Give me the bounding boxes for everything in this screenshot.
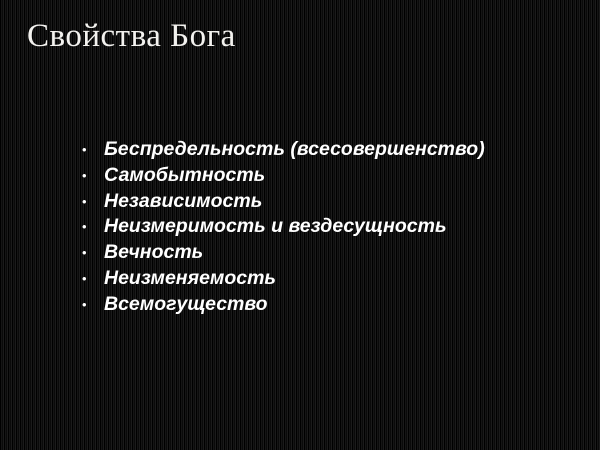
- bullet-icon: •: [78, 292, 104, 318]
- list-item-label: Неизмеримость и вездесущность: [104, 214, 447, 240]
- bullet-icon: •: [78, 266, 104, 292]
- bullet-icon: •: [78, 214, 104, 240]
- bullet-icon: •: [78, 137, 104, 163]
- list-item: • Независимость: [78, 189, 578, 215]
- list-item: • Всемогущество: [78, 292, 578, 318]
- list-item-label: Всемогущество: [104, 292, 268, 318]
- bullet-icon: •: [78, 163, 104, 189]
- list-item-label: Вечность: [104, 240, 203, 266]
- bullet-icon: •: [78, 189, 104, 215]
- list-item-label: Независимость: [104, 189, 262, 215]
- bullet-icon: •: [78, 240, 104, 266]
- list-item: • Вечность: [78, 240, 578, 266]
- list-item-label: Беспредельность (всесовершенство): [104, 137, 485, 163]
- page-title: Свойства Бога: [27, 18, 600, 55]
- presentation-slide: Свойства Бога • Беспредельность (всесове…: [0, 0, 600, 450]
- properties-bullet-list: • Беспредельность (всесовершенство) • Са…: [78, 137, 578, 318]
- list-item: • Неизменяемость: [78, 266, 578, 292]
- list-item: • Неизмеримость и вездесущность: [78, 214, 578, 240]
- list-item: • Беспредельность (всесовершенство): [78, 137, 578, 163]
- list-item: • Самобытность: [78, 163, 578, 189]
- list-item-label: Неизменяемость: [104, 266, 276, 292]
- list-item-label: Самобытность: [104, 163, 265, 189]
